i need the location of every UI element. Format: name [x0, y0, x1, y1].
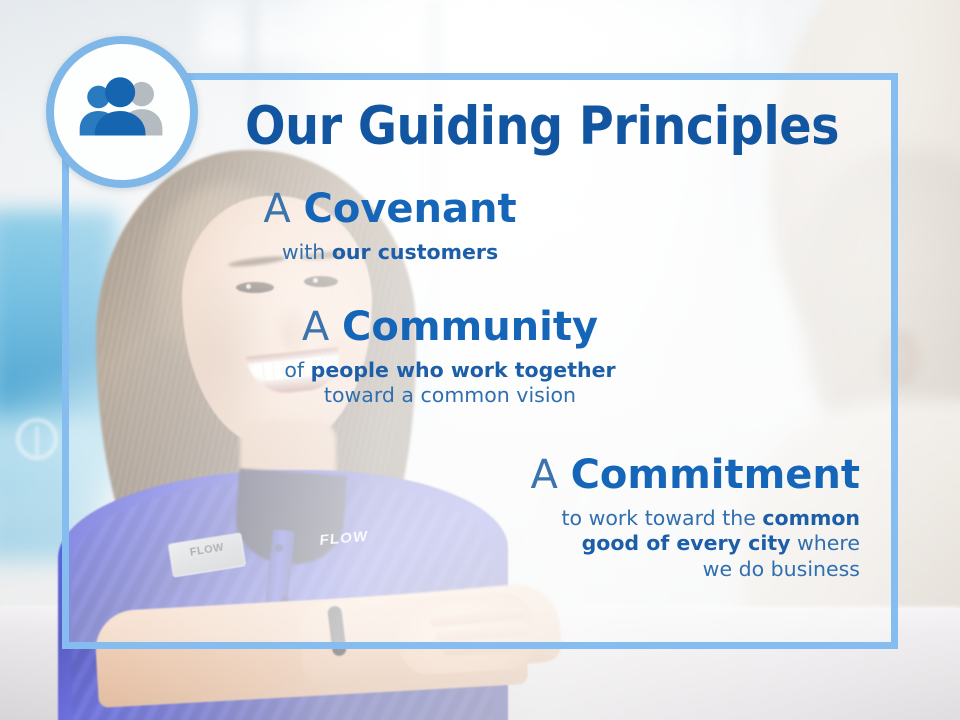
body-text: to work toward the: [561, 506, 762, 530]
principle-article: A: [530, 452, 570, 498]
body-line-2: toward a common vision: [62, 383, 838, 409]
body-text: where: [791, 531, 860, 555]
principle-word: Covenant: [303, 186, 516, 232]
principle-heading: A Community: [62, 307, 838, 349]
body-line-3: we do business: [62, 557, 860, 583]
body-text-bold: people who work together: [311, 358, 616, 382]
poster-canvas: FLOW FLOW Our Gui: [0, 0, 960, 720]
principle-covenant: A Covenant with our customers: [62, 189, 898, 265]
body-text-bold: good of every city: [582, 531, 791, 555]
body-line: with: [282, 240, 332, 264]
principle-community: A Community of people who work together …: [62, 307, 898, 409]
principle-body: with our customers: [62, 240, 718, 266]
principle-heading: A Commitment: [62, 455, 860, 497]
body-line-1: of people who work together: [62, 358, 838, 384]
body-text: of: [284, 358, 310, 382]
body-line-bold: our customers: [332, 240, 498, 264]
text-content: Our Guiding Principles A Covenant with o…: [62, 73, 898, 649]
body-line-1: to work toward the common: [62, 506, 860, 532]
principle-word: Community: [342, 304, 598, 350]
principle-body: of people who work together toward a com…: [62, 358, 838, 410]
body-line-2: good of every city where: [62, 531, 860, 557]
page-title: Our Guiding Principles: [245, 100, 839, 153]
principle-article: A: [302, 304, 342, 350]
principle-commitment: A Commitment to work toward the common g…: [62, 455, 898, 583]
principle-word: Commitment: [571, 452, 860, 498]
principle-body: to work toward the common good of every …: [62, 506, 860, 583]
principle-article: A: [263, 186, 303, 232]
body-text-bold: common: [762, 506, 860, 530]
principle-heading: A Covenant: [62, 189, 718, 231]
